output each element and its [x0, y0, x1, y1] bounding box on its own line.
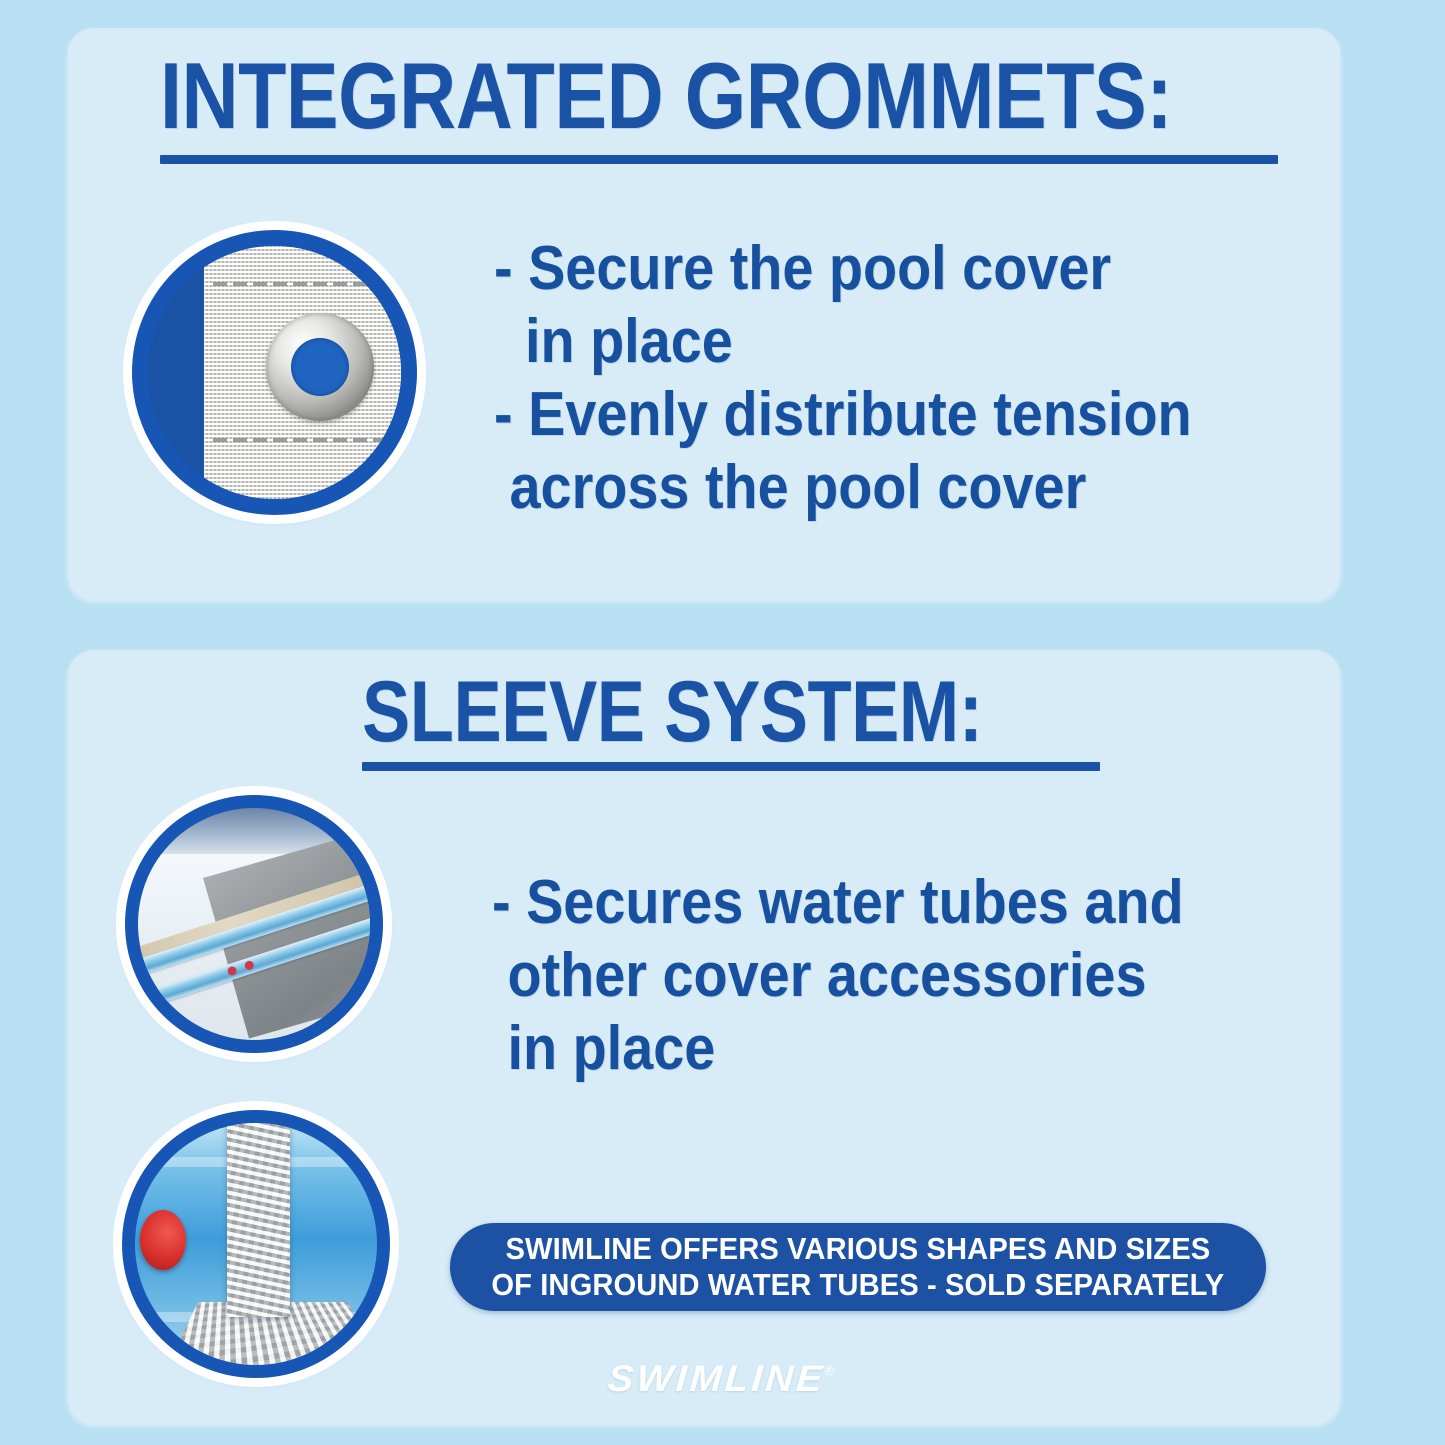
tube-cap-icon — [244, 960, 255, 971]
bullet-line: - Secures water tubes and — [492, 866, 1284, 939]
grommet-ring-icon — [266, 313, 374, 421]
sleeve-strap — [227, 1123, 290, 1317]
swimline-logo: SWIMLINE ® — [578, 1358, 868, 1400]
tubes-photo-inner — [138, 808, 370, 1040]
sleeve-photo-inner — [135, 1123, 377, 1365]
title-underline-grommets — [160, 155, 1278, 164]
bullet-line: across the pool cover — [494, 451, 1304, 524]
bullet-line: in place — [492, 1012, 1284, 1085]
stitch-row-bottom-icon — [213, 438, 401, 442]
tube-cap-icon — [227, 965, 238, 976]
infographic-page: INTEGRATED GROMMETS: - Secure the pool c… — [0, 0, 1445, 1445]
bullet-line: other cover accessories — [492, 939, 1284, 1012]
bullet-line: - Evenly distribute tension — [494, 378, 1304, 451]
bullet-line: in place — [494, 305, 1304, 378]
grommet-closeup-photo — [132, 230, 417, 515]
grommet-hole — [291, 338, 349, 396]
mesh-fabric-texture — [204, 246, 401, 499]
water-tube-sleeve-photo — [122, 1110, 390, 1378]
title-underline-sleeve — [362, 762, 1100, 771]
section-title-sleeve: SLEEVE SYSTEM: — [362, 668, 982, 756]
stitch-row-top-icon — [213, 282, 401, 286]
banner-line: SWIMLINE OFFERS VARIOUS SHAPES AND SIZES — [506, 1231, 1211, 1267]
banner-line: OF INGROUND WATER TUBES - SOLD SEPARATEL… — [492, 1267, 1225, 1303]
water-tubes-availability-banner: SWIMLINE OFFERS VARIOUS SHAPES AND SIZES… — [450, 1223, 1266, 1311]
bullet-list-sleeve: - Secures water tubes and other cover ac… — [492, 866, 1284, 1085]
grommet-photo-inner — [148, 246, 401, 499]
red-fill-cap-icon — [140, 1210, 186, 1270]
registered-trademark-icon: ® — [824, 1363, 834, 1378]
swimline-wordmark: SWIMLINE — [606, 1358, 826, 1400]
pool-cover-water-tubes-photo — [125, 795, 383, 1053]
bullet-list-grommets: - Secure the pool cover in place - Evenl… — [494, 232, 1304, 524]
bullet-line: - Secure the pool cover — [494, 232, 1304, 305]
section-title-grommets: INTEGRATED GROMMETS: — [160, 48, 1172, 144]
